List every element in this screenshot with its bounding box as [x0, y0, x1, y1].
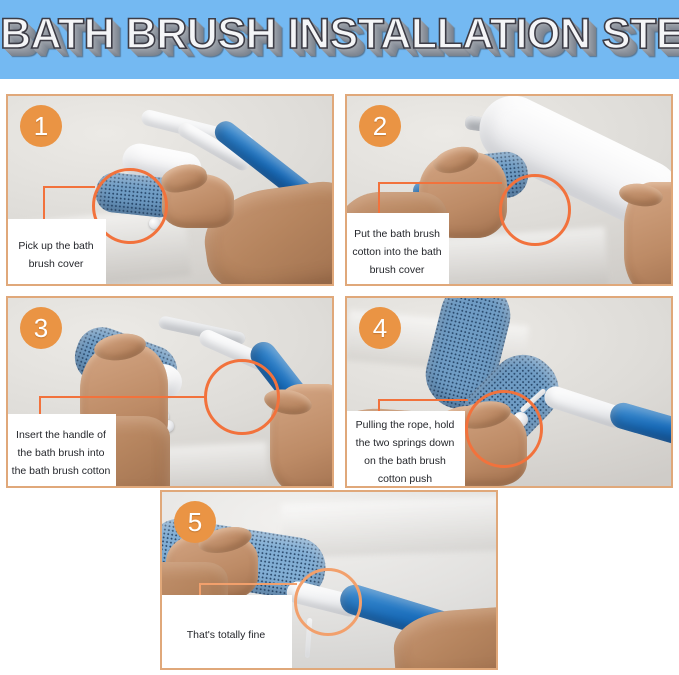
caption-line: the bath brush cotton	[11, 462, 111, 480]
caption-line: brush cover	[350, 261, 444, 279]
step-badge-1: 1	[20, 105, 62, 147]
step-caption-2: Put the bath brush cotton into the bath …	[345, 213, 449, 286]
header-banner: BATH BRUSH INSTALLATION STEPS	[0, 0, 679, 79]
leader-line-h-3	[39, 396, 206, 398]
caption-line: Insert the handle of	[11, 426, 111, 444]
step-caption-5: That's totally fine	[160, 595, 292, 670]
step-caption-4: Pulling the rope, hold the two springs d…	[345, 411, 465, 488]
step-panel-3: 3 Insert the handle of the bath brush in…	[6, 296, 334, 488]
caption-line: cotton into the bath	[350, 243, 444, 261]
caption-line: Pick up the bath	[11, 237, 101, 255]
highlight-circle-5	[294, 568, 362, 636]
highlight-circle-4	[465, 390, 543, 468]
step-panel-4: 4 Pulling the rope, hold the two springs…	[345, 296, 673, 488]
leader-line-h-4	[378, 399, 468, 401]
highlight-circle-3	[204, 359, 280, 435]
leader-line-v-2	[378, 182, 380, 214]
step-panel-5: 5 That's totally fine	[160, 490, 498, 670]
caption-line: That's totally fine	[165, 626, 287, 644]
leader-line-h-5	[199, 583, 297, 585]
caption-line: Put the bath brush	[350, 225, 444, 243]
caption-line: cotton push	[350, 470, 460, 488]
step-panel-1: 1 Pick up the bath brush cover	[6, 94, 334, 286]
caption-line: Pulling the rope, hold	[350, 416, 460, 434]
caption-line: the two springs down	[350, 434, 460, 452]
page-title: BATH BRUSH INSTALLATION STEPS	[0, 4, 679, 64]
leader-line-v-1	[43, 186, 45, 221]
step-panel-2: 2 Put the bath brush cotton into the bat…	[345, 94, 673, 286]
step-caption-3: Insert the handle of the bath brush into…	[6, 414, 116, 488]
caption-line: brush cover	[11, 255, 101, 273]
step-badge-3: 3	[20, 307, 62, 349]
step-badge-4: 4	[359, 307, 401, 349]
caption-line: the bath brush into	[11, 444, 111, 462]
step-badge-2: 2	[359, 105, 401, 147]
leader-line-h-1	[43, 186, 95, 188]
highlight-circle-2	[499, 174, 571, 246]
step-badge-5: 5	[174, 501, 216, 543]
leader-line-h-2	[378, 182, 502, 184]
caption-line: on the bath brush	[350, 452, 460, 470]
step-caption-1: Pick up the bath brush cover	[6, 219, 106, 286]
